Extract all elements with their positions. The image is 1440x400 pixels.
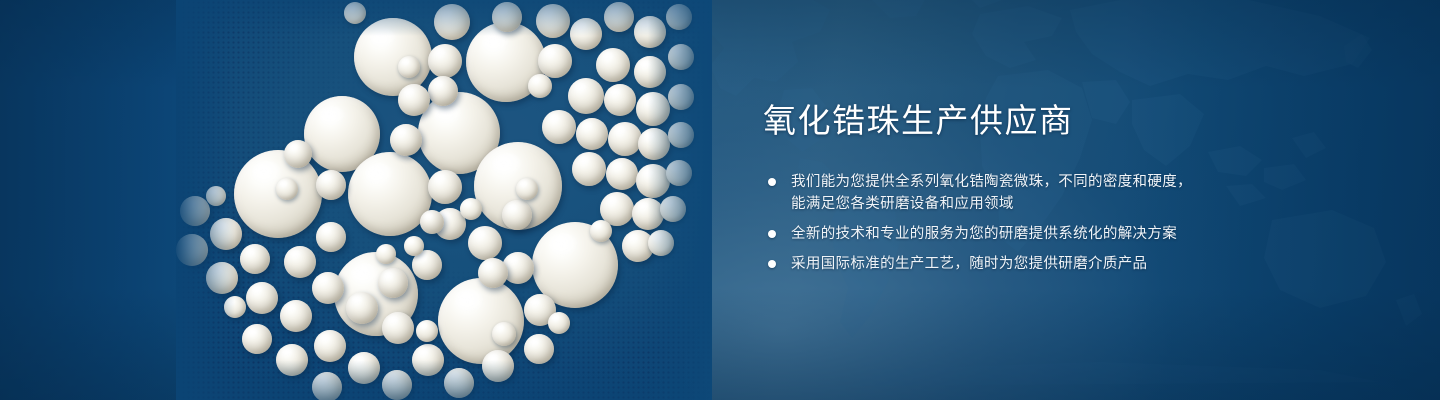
bead-cluster [176,0,712,400]
bead [548,312,570,334]
bead [638,128,670,160]
bead [224,296,246,318]
bead [284,246,316,278]
bead [478,258,508,288]
bullet-dot-icon [768,230,776,238]
bead [604,84,636,116]
bead [460,198,482,220]
bead [542,110,576,144]
bead [206,186,226,206]
bead [284,140,312,168]
bead [606,158,638,190]
bead [176,234,208,266]
bead [246,282,278,314]
bead [312,272,344,304]
bead [570,18,602,50]
bead [206,262,238,294]
bead [668,44,694,70]
bullet-line-1: 我们能为您提供全系列氧化锆陶瓷微珠，不同的密度和硬度， [791,174,1192,190]
bead [428,170,462,204]
bead [666,4,692,30]
bullet-dot-icon [768,260,776,268]
bead [660,196,686,222]
banner-bullet-list: 我们能为您提供全系列氧化锆陶瓷微珠，不同的密度和硬度， 能满足您各类研磨设备和应… [763,171,1383,275]
bead [398,84,430,116]
bullet-line-1: 全新的技术和专业的服务为您的研磨提供系统化的解决方案 [791,226,1177,242]
bead [390,124,422,156]
bead [378,268,408,298]
bead [382,312,414,344]
bead [572,152,606,186]
bead [516,178,538,200]
bead [576,118,608,150]
bead [416,320,438,342]
bead [590,220,612,242]
bead [538,44,572,78]
product-image-zirconia-beads [176,0,712,400]
bead [420,210,444,234]
bead [524,334,554,364]
hero-banner: 氧化锆珠生产供应商 我们能为您提供全系列氧化锆陶瓷微珠，不同的密度和硬度， 能满… [0,0,1440,400]
bead [376,244,396,264]
bead [668,84,694,110]
bead [636,164,670,198]
bead [210,218,242,250]
bead [668,122,694,148]
bead [568,78,604,114]
bead [492,322,516,346]
bead [412,344,444,376]
bullet-dot-icon [768,178,776,186]
banner-copy: 氧化锆珠生产供应商 我们能为您提供全系列氧化锆陶瓷微珠，不同的密度和硬度， 能满… [763,100,1383,275]
banner-headline: 氧化锆珠生产供应商 [763,100,1383,141]
bead [348,352,380,384]
bead [344,2,366,24]
bead [468,226,502,260]
bead [280,300,312,332]
bead [634,56,666,88]
bead [240,244,270,274]
bead [636,92,670,126]
bead [444,368,474,398]
bead [632,198,664,230]
bead [492,2,522,32]
bead [242,324,272,354]
bead [596,48,630,82]
list-item: 采用国际标准的生产工艺，随时为您提供研磨介质产品 [763,253,1383,275]
bullet-line-1: 采用国际标准的生产工艺，随时为您提供研磨介质产品 [791,256,1147,272]
bead [482,350,514,382]
bead [502,200,532,230]
bead [528,74,552,98]
bead [382,370,412,400]
bead [434,4,470,40]
bead [316,170,346,200]
bead [536,4,570,38]
bead [634,16,666,48]
bead [312,372,342,400]
bead [398,56,420,78]
bead [666,160,692,186]
bead [604,2,634,32]
bead [346,292,378,324]
bead [428,44,462,78]
list-item: 我们能为您提供全系列氧化锆陶瓷微珠，不同的密度和硬度， 能满足您各类研磨设备和应… [763,171,1383,215]
bead [180,196,210,226]
bead [428,76,458,106]
bead [648,230,674,256]
bead [404,236,424,256]
bullet-line-2: 能满足您各类研磨设备和应用领域 [791,193,1383,215]
bead [608,122,642,156]
list-item: 全新的技术和专业的服务为您的研磨提供系统化的解决方案 [763,223,1383,245]
bead [276,344,308,376]
bead [438,278,524,364]
bead [314,330,346,362]
bead [276,178,298,200]
bead [316,222,346,252]
